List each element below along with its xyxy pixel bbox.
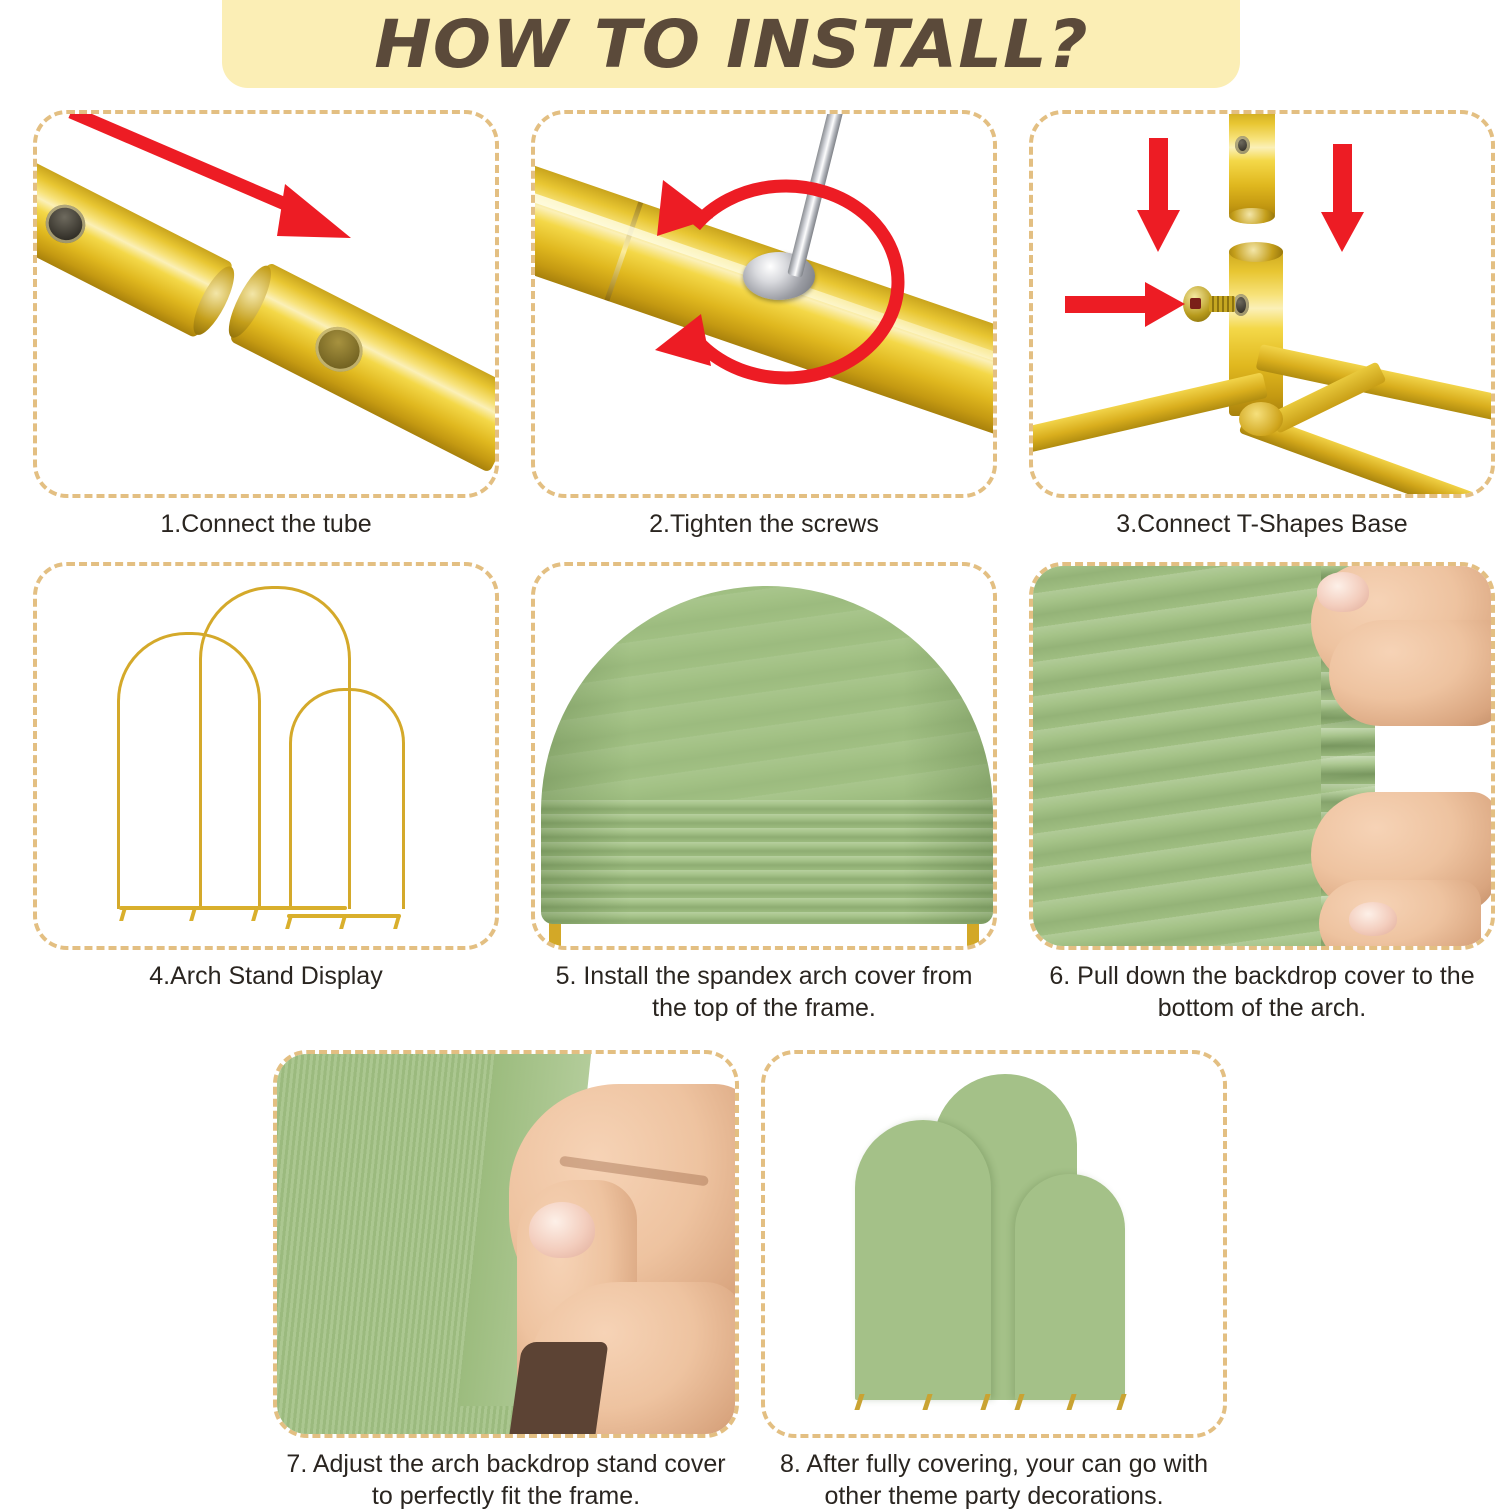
thumbnail-icon: [1317, 572, 1369, 612]
tube-connect-illustration: [37, 114, 495, 494]
step-card-8: 8. After fully covering, your can go wit…: [761, 1050, 1227, 1512]
step-caption-8: 8. After fully covering, your can go wit…: [774, 1448, 1214, 1512]
step-card-6: 6. Pull down the backdrop cover to the b…: [1029, 562, 1495, 1024]
step-image-4: [33, 562, 499, 950]
arch-wireframe-illustration: [37, 566, 495, 946]
spandex-cover-illustration: [535, 566, 993, 946]
wire-arch-short: [289, 688, 405, 909]
step-caption-1: 1.Connect the tube: [46, 508, 486, 540]
steps-row-2: 4.Arch Stand Display 5. Inst: [0, 562, 1500, 1024]
step-card-3: 3.Connect T-Shapes Base: [1029, 110, 1495, 540]
steps-row-1: 1.Connect the tube: [0, 110, 1500, 540]
cover-shadow-right: [903, 586, 993, 924]
green-arch-cover: [541, 586, 993, 924]
title-banner: HOW TO INSTALL?: [222, 0, 1240, 88]
covered-arch-short: [1015, 1174, 1125, 1400]
step-image-7: [273, 1050, 739, 1438]
fingernail-icon: [1349, 902, 1397, 936]
cover-shadow-left: [541, 586, 631, 924]
shadow-gap: [508, 1342, 609, 1438]
red-rotation-arrow: [535, 114, 997, 498]
step-caption-7: 7. Adjust the arch backdrop stand cover …: [286, 1448, 726, 1512]
finished-arches-illustration: [765, 1054, 1223, 1434]
step-image-5: [531, 562, 997, 950]
tighten-screw-illustration: [535, 114, 993, 494]
step-image-2: [531, 110, 997, 498]
wire-arch-medium: [117, 632, 261, 909]
wire-foot-4: [285, 916, 293, 929]
step-card-2: 2.Tighten the screws: [531, 110, 997, 540]
step-card-5: 5. Install the spandex arch cover from t…: [531, 562, 997, 1024]
pull-down-cover-illustration: [1033, 566, 1491, 946]
step-caption-3: 3.Connect T-Shapes Base: [1042, 508, 1482, 540]
thumbnail-icon: [529, 1202, 595, 1258]
step-caption-2: 2.Tighten the screws: [544, 508, 984, 540]
step-card-1: 1.Connect the tube: [33, 110, 499, 540]
hand-gripping-fabric: [1301, 562, 1495, 950]
adjust-cover-illustration: [277, 1054, 735, 1434]
steps-grid: 1.Connect the tube: [0, 110, 1500, 1512]
red-arrow-diagonal: [37, 114, 499, 498]
step-card-4: 4.Arch Stand Display: [33, 562, 499, 1024]
step-image-1: [33, 110, 499, 498]
t-base-illustration: [1033, 114, 1491, 494]
wire-base-center: [201, 906, 347, 910]
step-card-7: 7. Adjust the arch backdrop stand cover …: [273, 1050, 739, 1512]
step-image-3: [1029, 110, 1495, 498]
page-title: HOW TO INSTALL?: [374, 12, 1088, 84]
step-caption-5: 5. Install the spandex arch cover from t…: [544, 960, 984, 1024]
covered-arch-medium: [855, 1120, 991, 1400]
red-arrows-base: [1033, 114, 1495, 498]
step-image-8: [761, 1050, 1227, 1438]
steps-row-3: 7. Adjust the arch backdrop stand cover …: [0, 1050, 1500, 1512]
step-caption-6: 6. Pull down the backdrop cover to the b…: [1042, 960, 1482, 1024]
step-caption-4: 4.Arch Stand Display: [46, 960, 486, 992]
step-image-6: [1029, 562, 1495, 950]
